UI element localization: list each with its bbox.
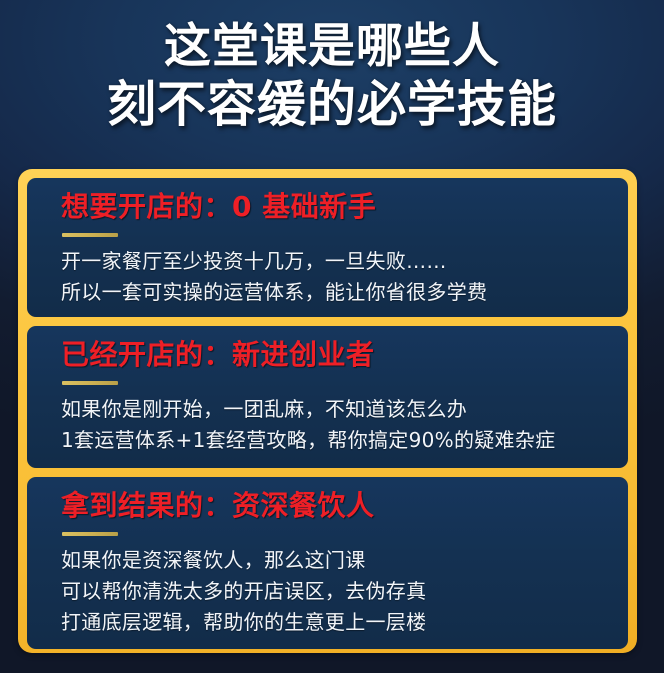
audience-card-1: 想要开店的：0 基础新手 开一家餐厅至少投资十几万，一旦失败…… 所以一套可实操… bbox=[27, 178, 628, 317]
gold-frame-panel: 想要开店的：0 基础新手 开一家餐厅至少投资十几万，一旦失败…… 所以一套可实操… bbox=[18, 169, 637, 653]
card-1-divider bbox=[62, 233, 118, 237]
card-3-line-3: 打通底层逻辑，帮助你的生意更上一层楼 bbox=[61, 607, 628, 638]
audience-card-3: 拿到结果的：资深餐饮人 如果你是资深餐饮人，那么这门课 可以帮你清洗太多的开店误… bbox=[27, 477, 628, 649]
card-2-divider bbox=[62, 381, 118, 385]
card-1-heading: 想要开店的：0 基础新手 bbox=[61, 189, 628, 225]
card-3-heading: 拿到结果的：资深餐饮人 bbox=[61, 488, 628, 524]
promo-poster: 这堂课是哪些人 刻不容缓的必学技能 想要开店的：0 基础新手 开一家餐厅至少投资… bbox=[0, 0, 664, 673]
title-line-1: 这堂课是哪些人 bbox=[0, 18, 664, 76]
page-title: 这堂课是哪些人 刻不容缓的必学技能 bbox=[0, 18, 664, 134]
title-line-2: 刻不容缓的必学技能 bbox=[0, 76, 664, 134]
card-2-line-2: 1套运营体系+1套经营攻略，帮你搞定90%的疑难杂症 bbox=[61, 425, 628, 456]
card-3-line-1: 如果你是资深餐饮人，那么这门课 bbox=[61, 545, 628, 576]
card-3-line-2: 可以帮你清洗太多的开店误区，去伪存真 bbox=[61, 576, 628, 607]
audience-card-list: 想要开店的：0 基础新手 开一家餐厅至少投资十几万，一旦失败…… 所以一套可实操… bbox=[27, 178, 628, 644]
audience-card-2: 已经开店的：新进创业者 如果你是刚开始，一团乱麻，不知道该怎么办 1套运营体系+… bbox=[27, 326, 628, 468]
card-1-line-1: 开一家餐厅至少投资十几万，一旦失败…… bbox=[61, 246, 628, 277]
card-1-line-2: 所以一套可实操的运营体系，能让你省很多学费 bbox=[61, 277, 628, 308]
card-3-divider bbox=[62, 532, 118, 536]
card-2-line-1: 如果你是刚开始，一团乱麻，不知道该怎么办 bbox=[61, 394, 628, 425]
card-2-heading: 已经开店的：新进创业者 bbox=[61, 337, 628, 373]
